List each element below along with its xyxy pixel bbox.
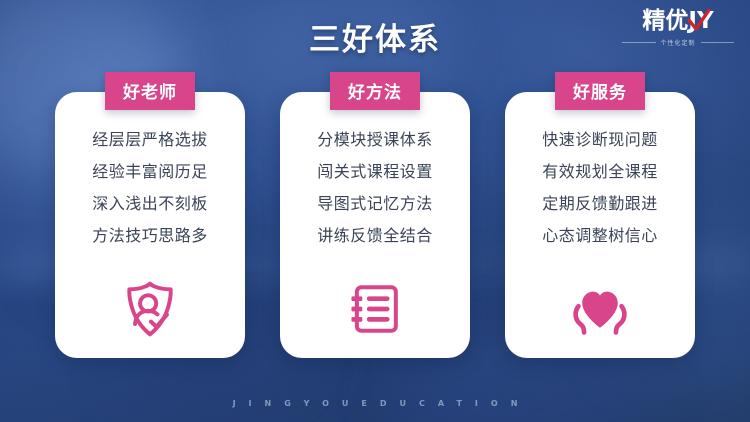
card-line: 分模块授课体系: [280, 132, 470, 148]
card-text-list: 经层层严格选拔 经验丰富阅历足 深入浅出不刻板 方法技巧思路多: [55, 132, 245, 244]
hands-holding-heart-icon: [569, 278, 631, 340]
card-line: 导图式记忆方法: [280, 196, 470, 212]
card-good-service[interactable]: 好服务 快速诊断现问题 有效规划全课程 定期反馈勤跟进 心态调整树信心: [505, 92, 695, 358]
card-line: 心态调整树信心: [505, 228, 695, 244]
card-tab-label: 好方法: [330, 72, 420, 110]
card-line: 经层层严格选拔: [55, 132, 245, 148]
logo-rule-right: [701, 42, 735, 43]
card-line: 深入浅出不刻板: [55, 196, 245, 212]
card-line: 讲练反馈全结合: [280, 228, 470, 244]
card-line: 闯关式课程设置: [280, 164, 470, 180]
card-good-teacher[interactable]: 好老师 经层层严格选拔 经验丰富阅历足 深入浅出不刻板 方法技巧思路多: [55, 92, 245, 358]
notebook-list-icon: [344, 278, 406, 340]
card-line: 快速诊断现问题: [505, 132, 695, 148]
brand-logo: 精优JY 个性化定制: [622, 10, 734, 47]
card-tab-label: 好服务: [555, 72, 645, 110]
card-text-list: 快速诊断现问题 有效规划全课程 定期反馈勤跟进 心态调整树信心: [505, 132, 695, 244]
card-group: 好老师 经层层严格选拔 经验丰富阅历足 深入浅出不刻板 方法技巧思路多 好方法 …: [0, 92, 750, 362]
logo-rule-left: [622, 42, 656, 43]
logo-tagline: 个性化定制: [661, 38, 696, 47]
card-line: 定期反馈勤跟进: [505, 196, 695, 212]
logo-tagline-row: 个性化定制: [622, 38, 734, 47]
slide-root: 三好体系 精优JY 个性化定制 好老师 经层层严格选拔 经验丰富阅历足 深入浅出…: [0, 0, 750, 422]
logo-wordmark: 精优JY: [642, 10, 713, 33]
card-text-list: 分模块授课体系 闯关式课程设置 导图式记忆方法 讲练反馈全结合: [280, 132, 470, 244]
card-good-method[interactable]: 好方法 分模块授课体系 闯关式课程设置 导图式记忆方法 讲练反馈全结合: [280, 92, 470, 358]
card-tab-label: 好老师: [105, 72, 195, 110]
card-line: 方法技巧思路多: [55, 228, 245, 244]
card-line: 有效规划全课程: [505, 164, 695, 180]
card-line: 经验丰富阅历足: [55, 164, 245, 180]
shield-person-check-icon: [119, 278, 181, 340]
footer-brand-text: JINGYOUEDUCATION: [0, 399, 750, 408]
logo-brand-text: 精优JY: [642, 8, 713, 34]
